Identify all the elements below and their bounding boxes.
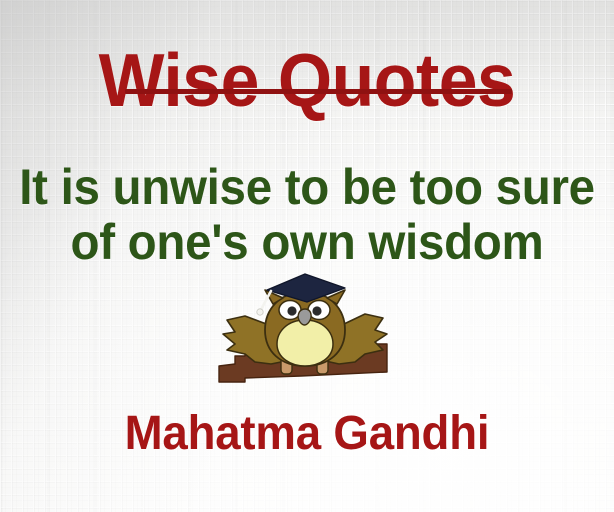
owl-with-graduation-cap-icon bbox=[205, 272, 405, 412]
graduation-cap-tassel bbox=[261, 291, 271, 310]
author-name: Mahatma Gandhi bbox=[15, 408, 598, 460]
author-block: Mahatma Gandhi bbox=[0, 408, 614, 460]
quote-block: It is unwise to be too sure of one's own… bbox=[0, 160, 614, 270]
owl-illustration bbox=[205, 272, 405, 412]
quote-poster: Wise Quotes It is unwise to be too sure … bbox=[0, 0, 614, 512]
owl-beak bbox=[298, 309, 311, 325]
page-title: Wise Quotes bbox=[21, 42, 592, 118]
owl-belly bbox=[277, 320, 333, 366]
quote-line-1: It is unwise to be too sure bbox=[15, 160, 598, 215]
quote-line-2: of one's own wisdom bbox=[15, 215, 598, 270]
title-block: Wise Quotes bbox=[0, 42, 614, 118]
title-underline-rule bbox=[125, 89, 512, 94]
